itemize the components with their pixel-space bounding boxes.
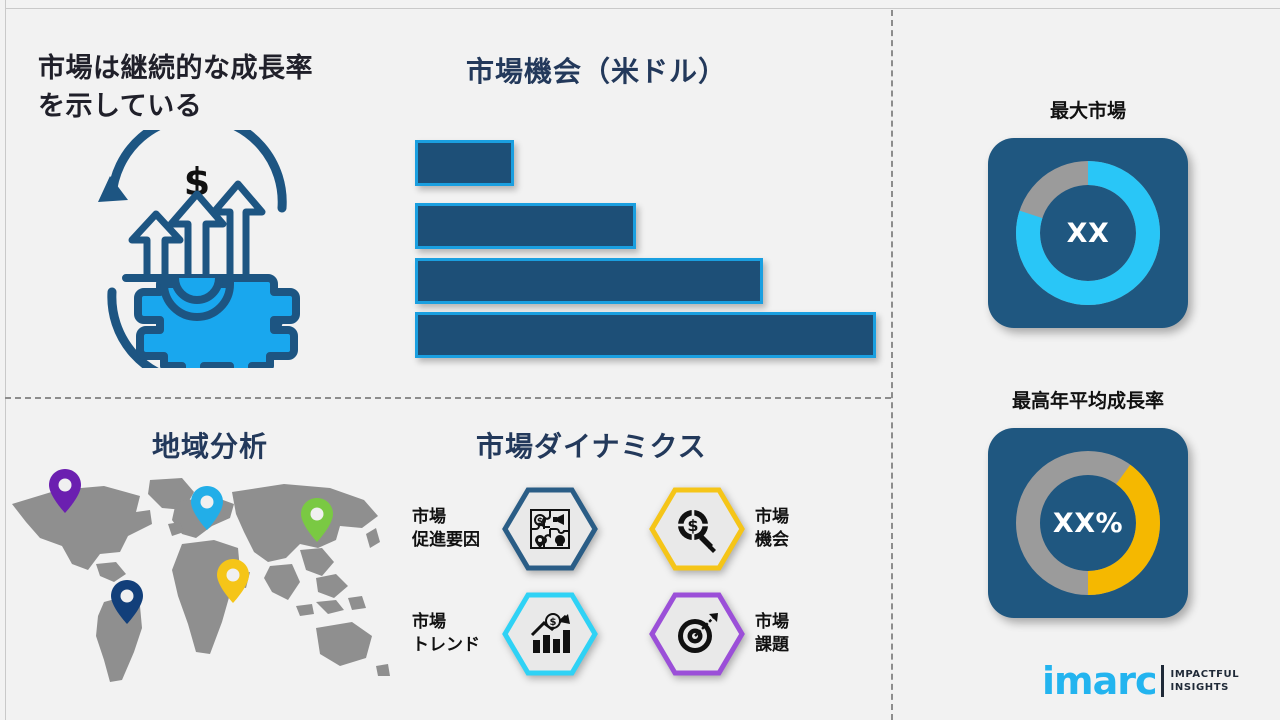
logo-divider bbox=[1161, 665, 1164, 697]
bar-3 bbox=[415, 258, 763, 304]
dynamics-label-opportunities: 市場 機会 bbox=[755, 506, 845, 552]
dynamics-label-challenges: 市場 課題 bbox=[755, 611, 845, 657]
pin-south-america bbox=[110, 579, 144, 625]
dynamics-title: 市場ダイナミクス bbox=[476, 425, 707, 465]
dynamics-label-drivers: 市場 促進要因 bbox=[412, 506, 502, 552]
opportunity-title: 市場機会（米ドル） bbox=[466, 50, 896, 90]
logo-tagline-line2: INSIGHTS bbox=[1171, 682, 1229, 693]
bar-2 bbox=[415, 203, 636, 249]
kpi-value-largest-market: XX bbox=[1067, 218, 1110, 249]
pin-north-america bbox=[48, 468, 82, 514]
logo-tagline: IMPACTFUL INSIGHTS bbox=[1171, 668, 1240, 694]
pin-middle-east-africa bbox=[216, 558, 250, 604]
bar-row bbox=[415, 140, 514, 186]
imarc-logo: imarc IMPACTFUL INSIGHTS bbox=[1042, 662, 1239, 700]
dynamics-item-challenges[interactable]: 市場 課題 bbox=[649, 592, 845, 676]
kpi-card-largest-market: XX bbox=[988, 138, 1188, 328]
pin-east-asia bbox=[300, 497, 334, 543]
kpi-card-highest-cagr: XX% bbox=[988, 428, 1188, 618]
bar-1 bbox=[415, 140, 514, 186]
bar-row bbox=[415, 312, 876, 358]
logo-tagline-line1: IMPACTFUL bbox=[1171, 669, 1240, 680]
bar-4 bbox=[415, 312, 876, 358]
puzzle-pieces-icon: $ bbox=[526, 505, 574, 553]
kpi-title-highest-cagr: 最高年平均成長率 bbox=[963, 386, 1213, 413]
hexagon-trends: $ bbox=[502, 592, 598, 676]
dynamics-item-drivers[interactable]: 市場 促進要因 $ bbox=[412, 487, 598, 571]
svg-text:$: $ bbox=[550, 617, 557, 628]
dynamics-item-trends[interactable]: 市場 トレンド $ bbox=[412, 592, 598, 676]
target-arrow-icon bbox=[673, 610, 721, 658]
hexagon-challenges bbox=[649, 592, 745, 676]
dynamics-item-opportunities[interactable]: $ 市場 機会 bbox=[649, 487, 845, 571]
magnifier-dollar-icon: $ bbox=[673, 505, 721, 553]
svg-text:$: $ bbox=[687, 516, 698, 535]
pin-europe bbox=[190, 485, 224, 531]
hexagon-opportunities: $ bbox=[649, 487, 745, 571]
frame-top-border bbox=[5, 8, 1280, 9]
svg-text:$: $ bbox=[537, 517, 543, 527]
kpi-title-largest-market: 最大市場 bbox=[963, 96, 1213, 123]
growth-title: 市場は継続的な成長率 を示している bbox=[38, 50, 388, 127]
vertical-dashed-divider bbox=[891, 10, 893, 720]
growth-bar-chart-icon: $ bbox=[526, 610, 574, 658]
growth-cycle-icon: $ bbox=[68, 130, 326, 368]
logo-wordmark: imarc bbox=[1042, 662, 1157, 700]
infographic-slide: 市場は継続的な成長率 を示している $ 市場機会（米ドル） bbox=[0, 0, 1280, 720]
opportunity-bar-chart bbox=[415, 140, 885, 355]
horizontal-dashed-divider bbox=[5, 397, 891, 399]
bar-row bbox=[415, 258, 763, 304]
region-title: 地域分析 bbox=[152, 425, 268, 465]
bar-row bbox=[415, 203, 636, 249]
hexagon-drivers: $ bbox=[502, 487, 598, 571]
dynamics-label-trends: 市場 トレンド bbox=[412, 611, 502, 657]
kpi-value-highest-cagr: XX% bbox=[1053, 508, 1123, 539]
